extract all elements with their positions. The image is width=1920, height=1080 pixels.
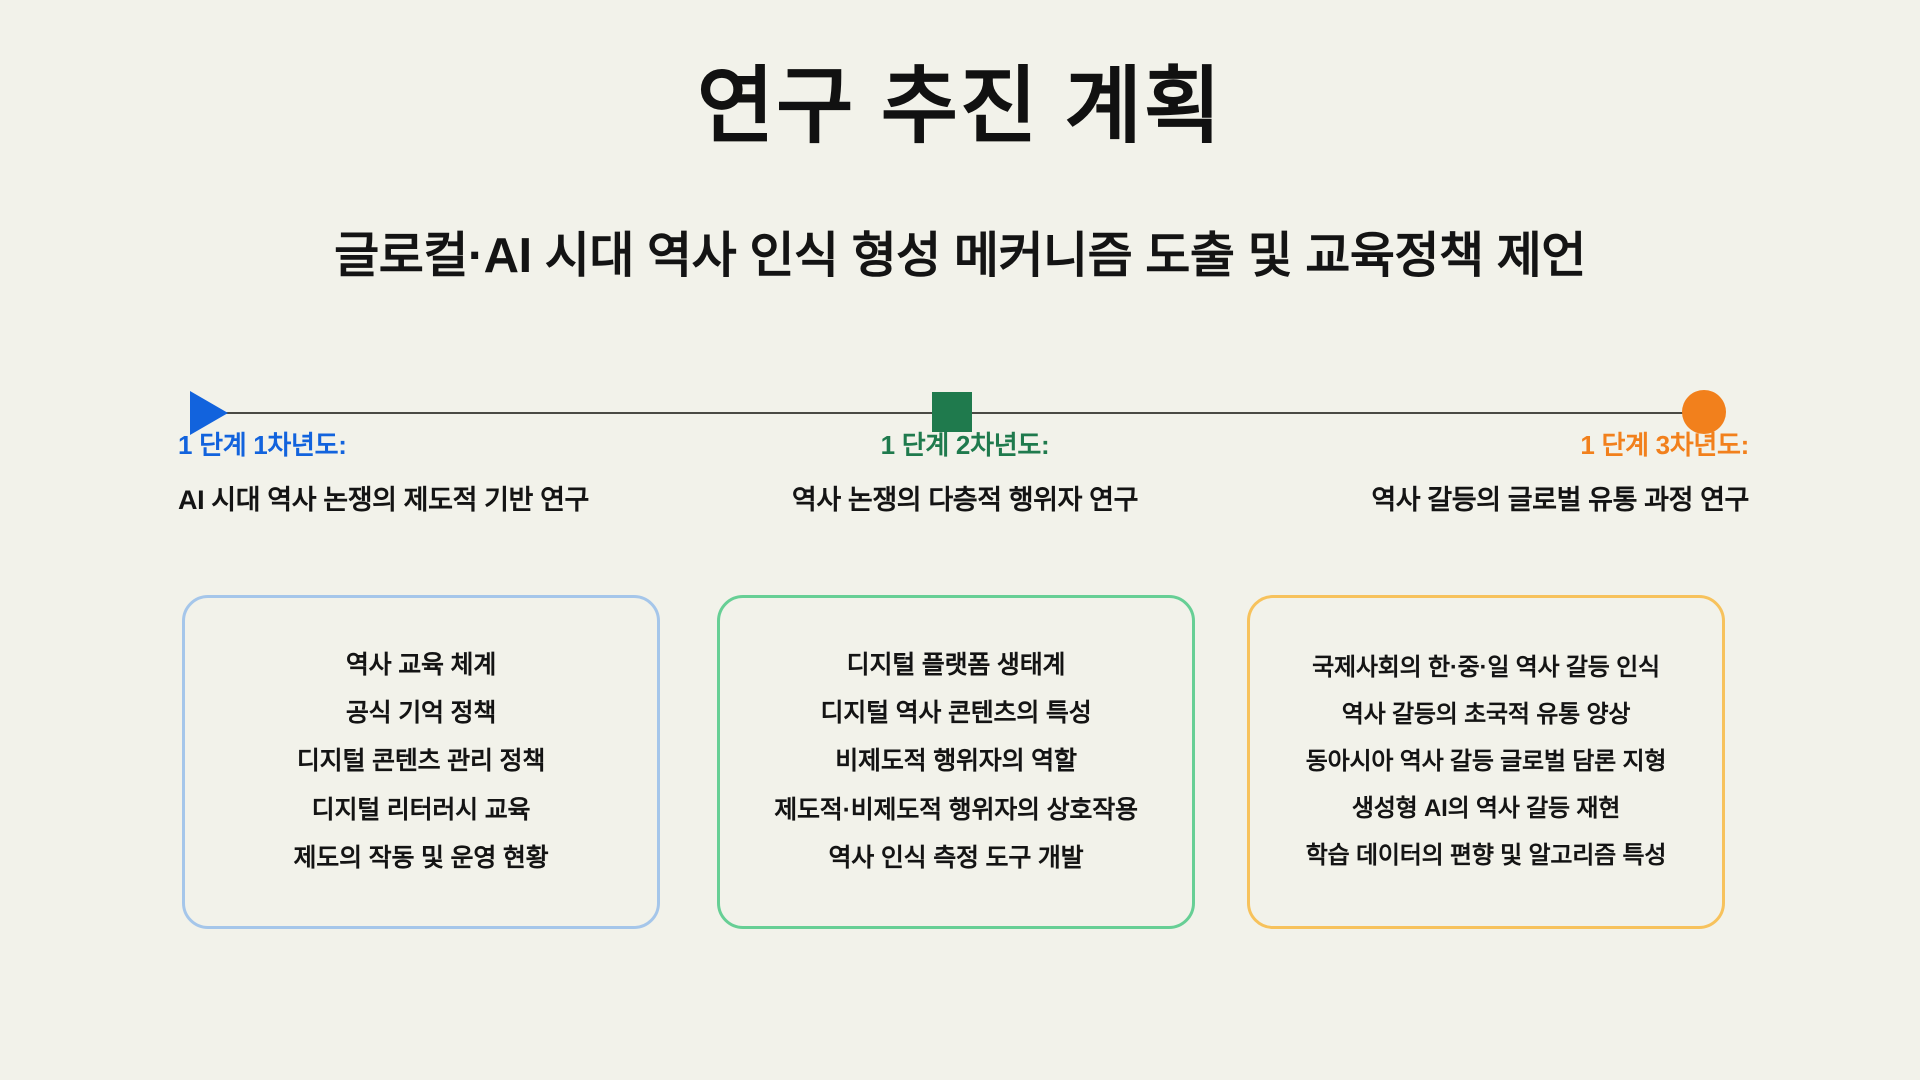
list-item: 비제도적 행위자의 역할 (835, 746, 1077, 777)
stage-2-label: 1 단계 2차년도: (705, 425, 1225, 462)
list-item: 역사 인식 측정 도구 개발 (829, 843, 1084, 874)
list-item: 학습 데이터의 편향 및 알고리즘 특성 (1306, 841, 1667, 871)
list-item: 디지털 플랫폼 생태계 (847, 650, 1066, 681)
page-subtitle: 글로컬·AI 시대 역사 인식 형성 메커니즘 도출 및 교육정책 제언 (0, 228, 1920, 284)
list-item: 제도의 작동 및 운영 현황 (294, 843, 549, 874)
list-item: 역사 갈등의 초국적 유통 양상 (1342, 700, 1630, 730)
stage-column-1: 1 단계 1차년도: AI 시대 역사 논쟁의 제도적 기반 연구 역사 교육 … (170, 425, 690, 929)
stage-3-card: 국제사회의 한·중·일 역사 갈등 인식 역사 갈등의 초국적 유통 양상 동아… (1247, 595, 1725, 929)
list-item: 공식 기억 정책 (346, 698, 496, 729)
list-item: 국제사회의 한·중·일 역사 갈등 인식 (1312, 653, 1660, 683)
stage-1-card: 역사 교육 체계 공식 기억 정책 디지털 콘텐츠 관리 정책 디지털 리터러시… (182, 595, 660, 929)
stage-columns: 1 단계 1차년도: AI 시대 역사 논쟁의 제도적 기반 연구 역사 교육 … (0, 425, 1920, 945)
list-item: 역사 교육 체계 (346, 650, 496, 681)
stage-3-description: 역사 갈등의 글로벌 유통 과정 연구 (1235, 478, 1755, 517)
list-item: 디지털 역사 콘텐츠의 특성 (820, 698, 1091, 729)
stage-2-card: 디지털 플랫폼 생태계 디지털 역사 콘텐츠의 특성 비제도적 행위자의 역할 … (717, 595, 1195, 929)
stage-column-2: 1 단계 2차년도: 역사 논쟁의 다층적 행위자 연구 디지털 플랫폼 생태계… (705, 425, 1225, 929)
list-item: 제도적·비제도적 행위자의 상호작용 (774, 795, 1138, 826)
stage-1-label: 1 단계 1차년도: (170, 425, 690, 462)
list-item: 디지털 콘텐츠 관리 정책 (297, 746, 545, 777)
stage-3-label: 1 단계 3차년도: (1235, 425, 1755, 462)
slide-root: 연구 추진 계획 글로컬·AI 시대 역사 인식 형성 메커니즘 도출 및 교육… (0, 0, 1920, 1080)
list-item: 동아시아 역사 갈등 글로벌 담론 지형 (1306, 747, 1667, 777)
list-item: 디지털 리터러시 교육 (312, 795, 531, 826)
stage-1-description: AI 시대 역사 논쟁의 제도적 기반 연구 (170, 478, 690, 517)
stage-column-3: 1 단계 3차년도: 역사 갈등의 글로벌 유통 과정 연구 국제사회의 한·중… (1235, 425, 1755, 929)
list-item: 생성형 AI의 역사 갈등 재현 (1352, 794, 1620, 824)
stage-2-description: 역사 논쟁의 다층적 행위자 연구 (705, 478, 1225, 517)
page-title: 연구 추진 계획 (0, 62, 1920, 150)
